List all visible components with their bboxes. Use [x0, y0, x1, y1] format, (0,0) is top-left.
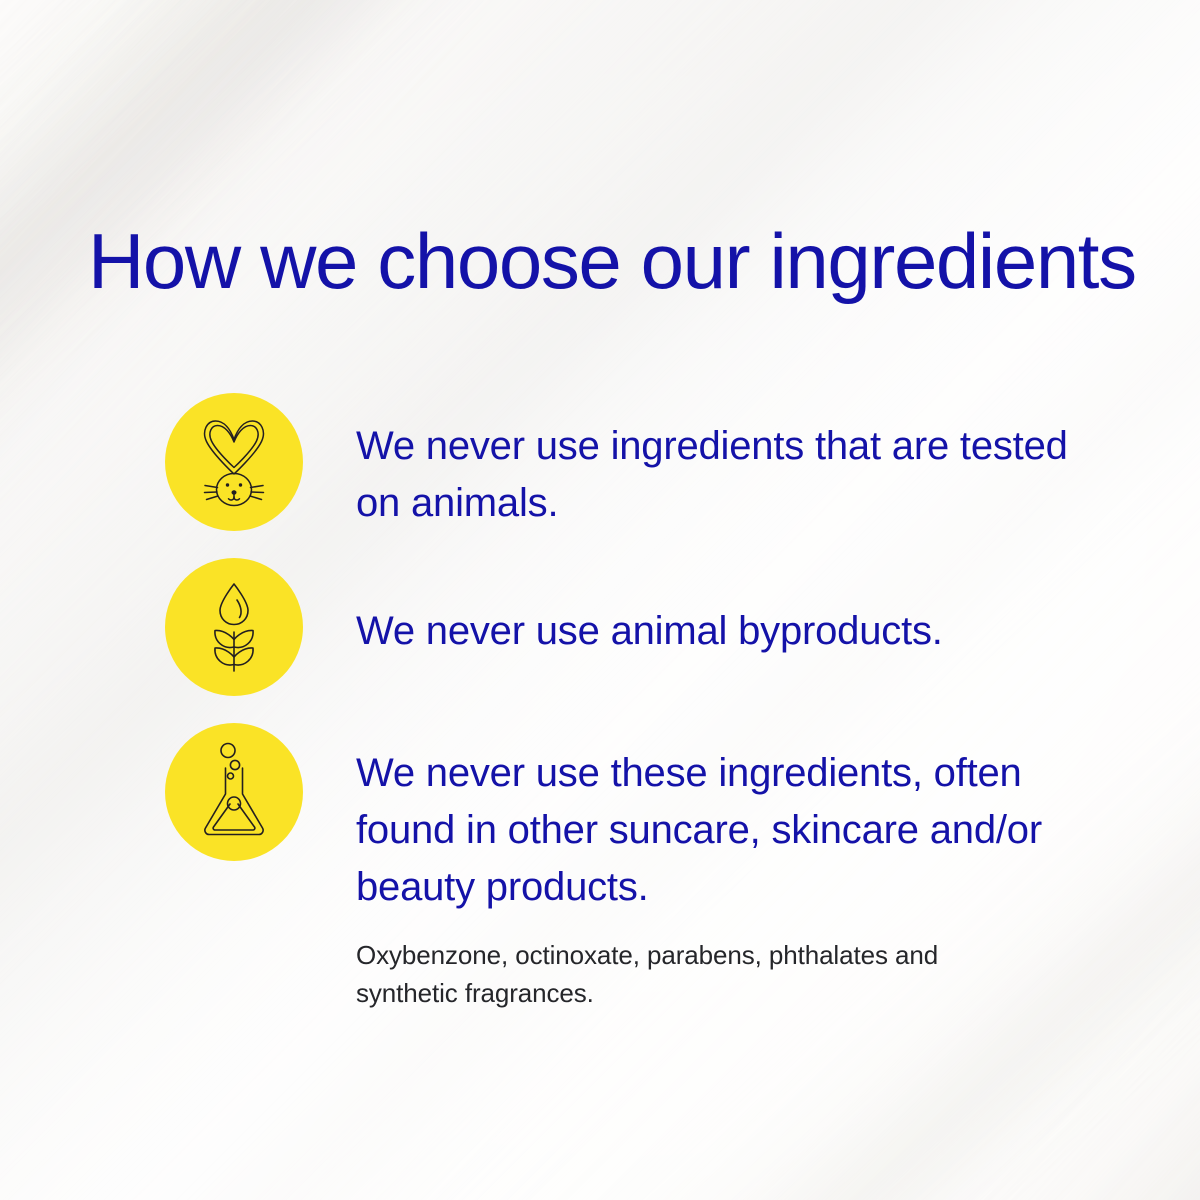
benefit-row-no-bad-ingredients: We never use these ingredients, often fo… — [165, 723, 1125, 1013]
marketing-infographic-page: How we choose our ingredients — [0, 0, 1200, 1200]
benefit-text-block: We never use ingredients that are tested… — [303, 393, 1125, 532]
bunny-heart-ears-icon — [192, 414, 276, 510]
badge-circle-flask — [165, 723, 303, 861]
benefit-list: We never use ingredients that are tested… — [165, 393, 1125, 1013]
content-layer: How we choose our ingredients — [0, 0, 1200, 1200]
badge-circle-bunny — [165, 393, 303, 531]
erlenmeyer-flask-icon — [197, 742, 271, 842]
badge-circle-plant — [165, 558, 303, 696]
benefit-headline: We never use these ingredients, often fo… — [356, 745, 1086, 915]
benefit-subtext-ingredient-list: Oxybenzone, octinoxate, parabens, phthal… — [356, 937, 1036, 1013]
benefit-row-no-animal-byproducts: We never use animal byproducts. — [165, 558, 1125, 723]
plant-droplet-icon — [196, 579, 272, 675]
page-title: How we choose our ingredients — [88, 222, 1136, 300]
benefit-headline: We never use ingredients that are tested… — [356, 418, 1076, 532]
benefit-headline: We never use animal byproducts. — [356, 603, 1076, 660]
benefit-text-block: We never use animal byproducts. — [303, 558, 1125, 660]
benefit-row-cruelty-free: We never use ingredients that are tested… — [165, 393, 1125, 558]
benefit-text-block: We never use these ingredients, often fo… — [303, 723, 1125, 1013]
